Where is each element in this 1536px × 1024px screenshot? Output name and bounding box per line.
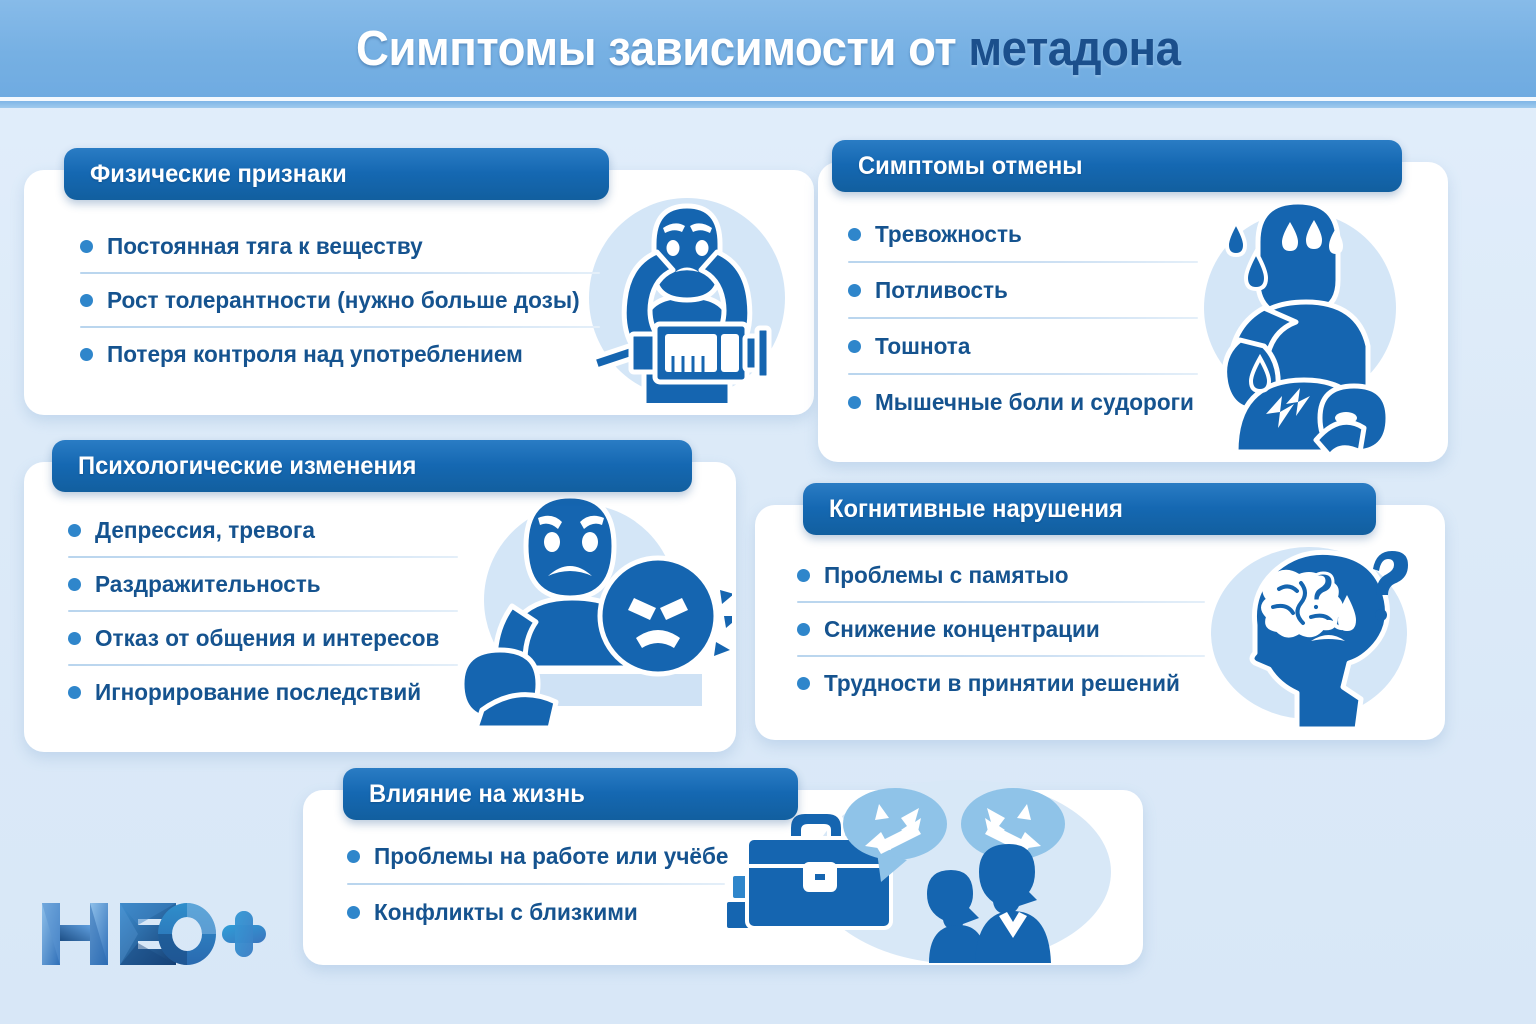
bullet-divider <box>347 883 725 885</box>
bullet-label: Постоянная тяга к веществу <box>107 233 423 260</box>
head-brain-question-icon <box>1207 537 1422 732</box>
bullet-item: Мышечные боли и судороги <box>848 382 1208 422</box>
card-header-life-impact: Влияние на жизнь <box>343 768 798 820</box>
bullet-label: Депрессия, тревога <box>95 517 315 544</box>
bullet-label: Тревожность <box>875 221 1022 248</box>
bullet-item: Отказ от общения и интересов <box>68 618 488 658</box>
card-header-physical-signs: Физические признаки <box>64 148 609 200</box>
card-title: Влияние на жизнь <box>369 780 585 809</box>
bullet-label: Проблемы с памятыо <box>824 562 1069 589</box>
card-withdrawal-symptoms: Симптомы отмены Тревожность Потливость Т… <box>818 162 1448 462</box>
bullet-label: Раздражительность <box>95 571 321 598</box>
bullet-divider <box>68 610 458 612</box>
bullet-label: Трудности в принятии решений <box>824 670 1180 697</box>
bullet-divider <box>848 373 1198 375</box>
card-header-cognitive-impairment: Когнитивные нарушения <box>803 483 1376 535</box>
bullet-dot-icon <box>797 569 810 582</box>
bullet-dot-icon <box>848 284 861 297</box>
stressed-person-syringe-icon <box>569 188 799 403</box>
bullet-item: Проблемы на работе или учёбе <box>347 836 747 876</box>
bullet-divider <box>797 601 1205 603</box>
bullet-divider <box>848 261 1198 263</box>
bullet-label: Снижение концентрации <box>824 616 1100 643</box>
bullet-divider <box>80 326 600 328</box>
bullet-item: Проблемы с памятыо <box>797 555 1227 595</box>
bullet-divider <box>848 317 1198 319</box>
card-title: Симптомы отмены <box>858 152 1083 181</box>
card-psychological-changes: Психологические изменения Депрессия, тре… <box>24 462 736 752</box>
card-cognitive-impairment: Когнитивные нарушения Проблемы с памятыо… <box>755 505 1445 740</box>
bullet-label: Тошнота <box>875 333 970 360</box>
header-band <box>0 101 1536 108</box>
card-physical-signs: Физические признаки Постоянная тяга к ве… <box>24 170 814 415</box>
bullet-dot-icon <box>68 524 81 537</box>
bullet-dot-icon <box>848 340 861 353</box>
bullet-item: Потеря контроля над употреблением <box>80 334 600 374</box>
bullet-label: Потливость <box>875 277 1008 304</box>
bullet-dot-icon <box>848 396 861 409</box>
bullet-label: Конфликты с близкими <box>374 899 638 926</box>
bullet-dot-icon <box>80 240 93 253</box>
bullet-item: Трудности в принятии решений <box>797 663 1227 703</box>
bullet-label: Игнорирование последствий <box>95 679 421 706</box>
bullet-dot-icon <box>797 623 810 636</box>
bullet-item: Раздражительность <box>68 564 488 604</box>
card-life-impact: Влияние на жизнь Проблемы на работе или … <box>303 790 1143 965</box>
bullet-dot-icon <box>848 228 861 241</box>
bullet-label: Отказ от общения и интересов <box>95 625 439 652</box>
bullet-label: Проблемы на работе или учёбе <box>374 843 728 870</box>
bullet-item: Депрессия, тревога <box>68 510 488 550</box>
bullet-item: Тошнота <box>848 326 1208 366</box>
bullet-divider <box>80 272 600 274</box>
bullet-dot-icon <box>68 686 81 699</box>
card-header-psychological-changes: Психологические изменения <box>52 440 692 492</box>
bullet-item: Постоянная тяга к веществу <box>80 226 600 266</box>
sweating-person-cramps-icon <box>1168 190 1438 455</box>
page-title-accent: метадона <box>968 22 1180 76</box>
bullet-dot-icon <box>347 906 360 919</box>
bullet-dot-icon <box>80 294 93 307</box>
page-header: Симптомы зависимости от метадона <box>0 0 1536 97</box>
infographic-page: Симптомы зависимости от метадона Физичес… <box>0 0 1536 1024</box>
bullet-dot-icon <box>68 578 81 591</box>
bullet-item: Потливость <box>848 270 1208 310</box>
bullet-item: Рост толерантности (нужно больше дозы) <box>80 280 600 320</box>
bullet-dot-icon <box>68 632 81 645</box>
bullet-item: Конфликты с близкими <box>347 892 747 932</box>
bullet-label: Потеря контроля над употреблением <box>107 341 523 368</box>
bullet-divider <box>68 556 458 558</box>
neo-plus-logo <box>38 893 268 975</box>
page-title: Симптомы зависимости от метадона <box>356 21 1180 77</box>
page-title-main: Симптомы зависимости от <box>356 22 968 76</box>
bullet-dot-icon <box>347 850 360 863</box>
card-title: Когнитивные нарушения <box>829 495 1123 524</box>
bullet-divider <box>68 664 458 666</box>
bullet-dot-icon <box>80 348 93 361</box>
card-title: Физические признаки <box>90 160 347 189</box>
card-header-withdrawal-symptoms: Симптомы отмены <box>832 140 1402 192</box>
bullet-item: Снижение концентрации <box>797 609 1227 649</box>
bullet-divider <box>797 655 1205 657</box>
card-title: Психологические изменения <box>78 452 416 481</box>
bullet-dot-icon <box>797 677 810 690</box>
bullet-label: Мышечные боли и судороги <box>875 389 1194 416</box>
bullet-item: Тревожность <box>848 214 1208 254</box>
bullet-item: Игнорирование последствий <box>68 672 488 712</box>
bullet-label: Рост толерантности (нужно больше дозы) <box>107 287 580 314</box>
